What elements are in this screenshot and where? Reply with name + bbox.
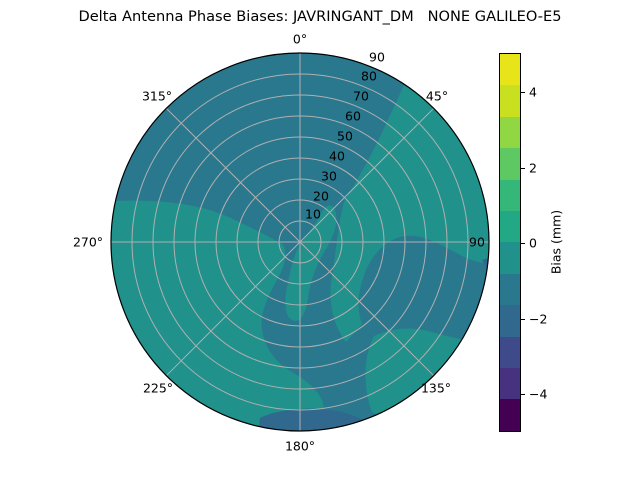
colorbar-ticklabel-0: 0 xyxy=(529,236,537,251)
r-tick-60: 60 xyxy=(345,109,361,124)
colorbar-band--1.25 xyxy=(500,274,520,305)
theta-tick-180: 180° xyxy=(285,439,315,454)
theta-tick-315: 315° xyxy=(142,89,172,104)
colorbar-band--3.5 xyxy=(500,368,520,399)
colorbar-ticklabel-4: 4 xyxy=(529,85,537,100)
colorbar-band-1.75 xyxy=(500,148,520,179)
r-tick-40: 40 xyxy=(329,149,345,164)
theta-tick-270: 270° xyxy=(73,235,103,250)
theta-tick-0: 0° xyxy=(293,32,307,47)
colorbar-band--2.0 xyxy=(500,305,520,336)
r-tick-30: 30 xyxy=(321,169,337,184)
figure-title: Delta Antenna Phase Biases: JAVRINGANT_D… xyxy=(0,8,640,25)
colorbar-band-2.5 xyxy=(500,117,520,148)
colorbar-tickmark--4 xyxy=(521,394,525,395)
theta-tick-225: 225° xyxy=(143,381,173,396)
r-tick-20: 20 xyxy=(313,189,329,204)
colorbar-band--2.75 xyxy=(500,337,520,368)
colorbar-ticklabel--2: −2 xyxy=(529,312,547,327)
colorbar-ticklabel--4: −4 xyxy=(529,387,547,402)
r-tick-50: 50 xyxy=(337,129,353,144)
colorbar-ticklabel-2: 2 xyxy=(529,161,537,176)
polar-axes[interactable] xyxy=(110,52,490,432)
theta-tick-90: 90 xyxy=(469,235,485,250)
r-tick-70: 70 xyxy=(353,89,369,104)
r-tick-90: 90 xyxy=(369,50,385,65)
colorbar[interactable] xyxy=(499,53,521,432)
colorbar-tickmark-2 xyxy=(521,168,525,169)
r-tick-80: 80 xyxy=(361,69,377,84)
colorbar-band--0.5 xyxy=(500,242,520,273)
colorbar-band-3.5 xyxy=(500,85,520,116)
colorbar-band-0.25 xyxy=(500,211,520,242)
colorbar-band-1.0 xyxy=(500,180,520,211)
colorbar-band--4.5 xyxy=(500,399,520,430)
colorbar-tickmark-4 xyxy=(521,92,525,93)
polar-contour-plot xyxy=(110,52,490,432)
colorbar-tickmark--2 xyxy=(521,319,525,320)
colorbar-tickmark-0 xyxy=(521,243,525,244)
colorbar-band-4.5 xyxy=(500,54,520,85)
r-tick-10: 10 xyxy=(305,207,321,222)
theta-tick-45: 45° xyxy=(426,89,448,104)
polar-grid xyxy=(111,53,489,431)
figure-canvas: Delta Antenna Phase Biases: JAVRINGANT_D… xyxy=(0,0,640,480)
theta-tick-135: 135° xyxy=(421,381,451,396)
colorbar-axis-label: Bias (mm) xyxy=(549,210,564,274)
